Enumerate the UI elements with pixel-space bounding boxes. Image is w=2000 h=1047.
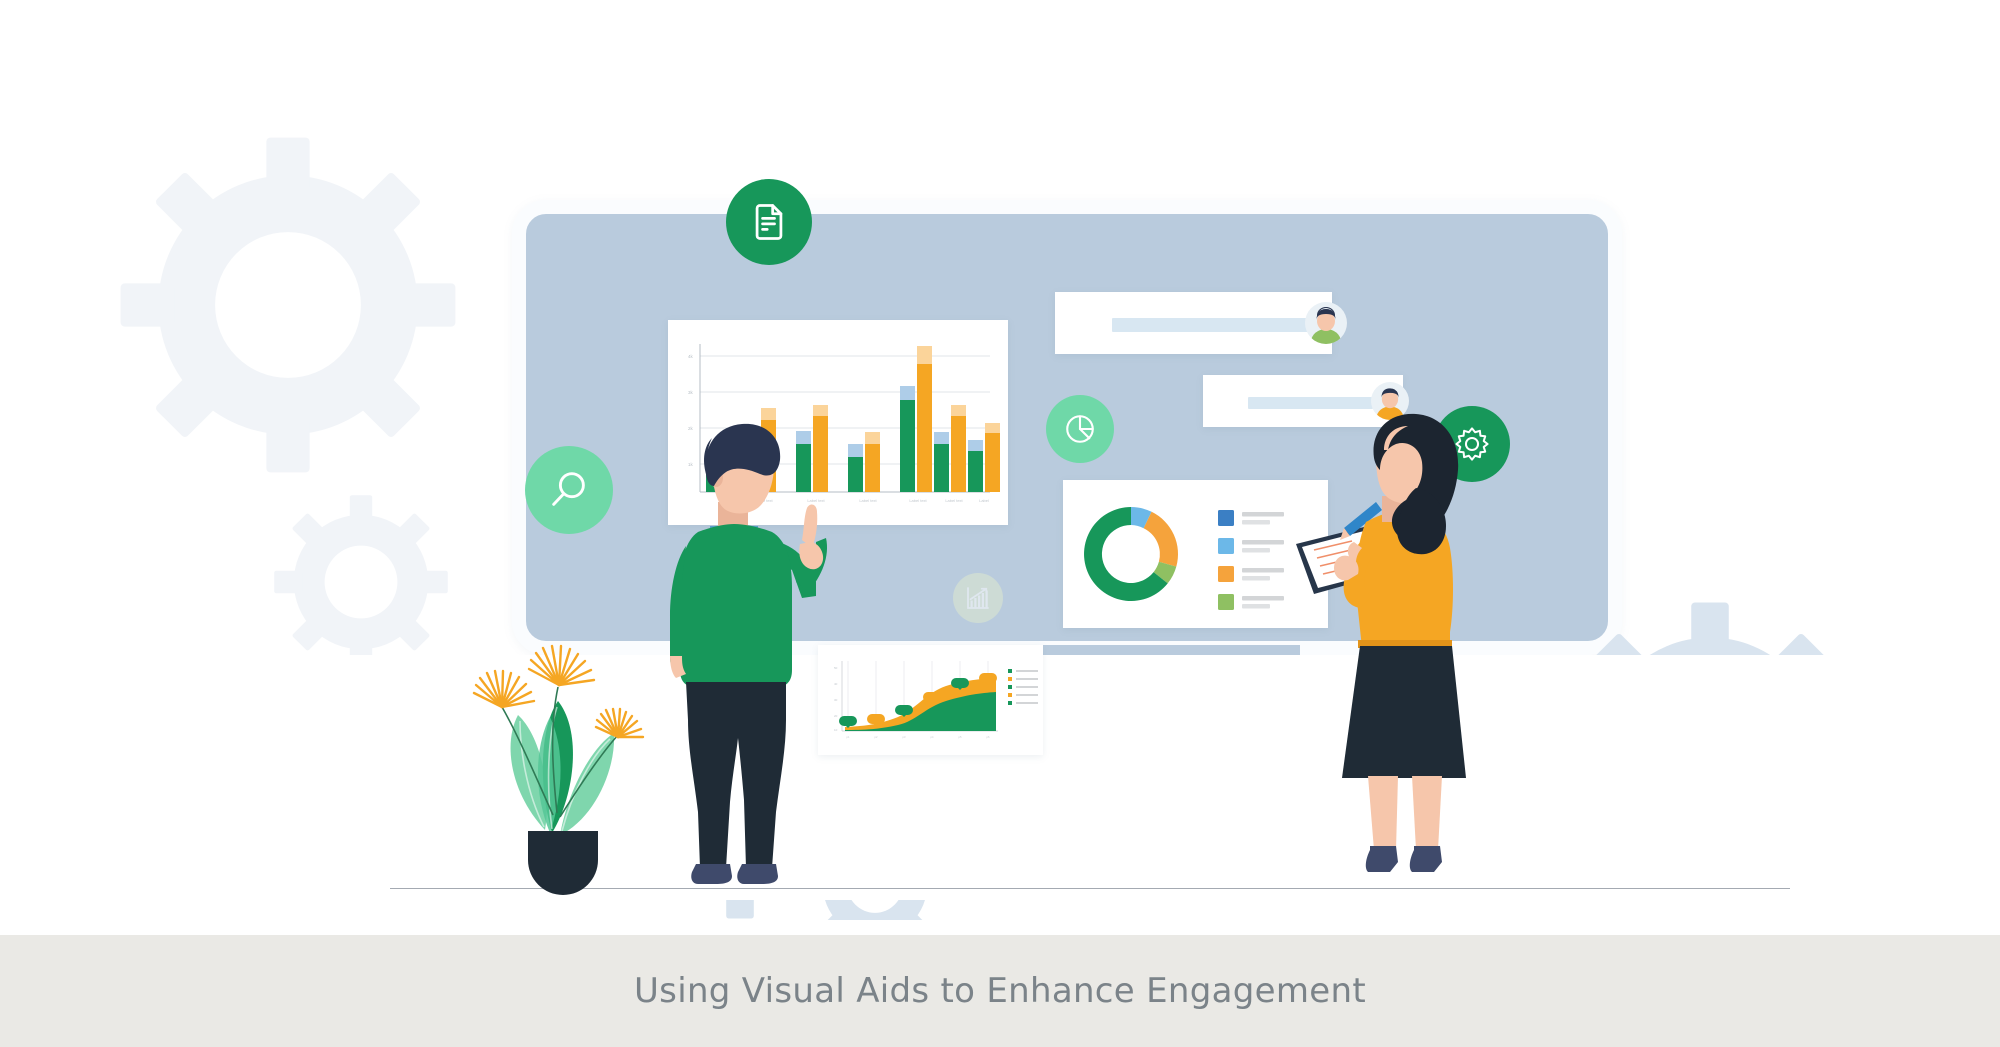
- svg-text:Label text: Label text: [859, 498, 877, 503]
- potted-plant: [440, 615, 670, 895]
- user-card-input-bar[interactable]: [1248, 397, 1373, 409]
- pie-chart-icon: [1062, 411, 1098, 447]
- woman-observer: [1290, 410, 1500, 900]
- document-badge[interactable]: [726, 179, 812, 265]
- svg-text:4k: 4k: [688, 354, 694, 359]
- svg-text:p2: p2: [875, 735, 878, 739]
- illustration-canvas: 4k 3k 2k 1k: [0, 0, 2000, 1047]
- svg-text:3k: 3k: [688, 390, 694, 395]
- growth-badge[interactable]: [953, 573, 1003, 623]
- svg-text:p6: p6: [987, 735, 990, 739]
- svg-text:Label text: Label text: [909, 498, 927, 503]
- search-badge[interactable]: [525, 446, 613, 534]
- avatar: [1305, 302, 1347, 344]
- donut-chart-card: [1063, 480, 1328, 628]
- svg-text:Label: Label: [979, 498, 989, 503]
- growth-chart-icon: [963, 583, 993, 613]
- svg-text:p3: p3: [903, 735, 906, 739]
- svg-text:p4: p4: [931, 735, 934, 739]
- pie-badge[interactable]: [1046, 395, 1114, 463]
- area-legend: [1008, 669, 1038, 705]
- svg-text:Label text: Label text: [945, 498, 963, 503]
- document-icon: [747, 200, 791, 244]
- user-card[interactable]: [1055, 292, 1332, 354]
- user-card-input-bar[interactable]: [1112, 318, 1308, 332]
- donut-legend: [1218, 510, 1284, 610]
- caption-text: Using Visual Aids to Enhance Engagement: [634, 971, 1366, 1011]
- pointing-hand: [796, 505, 827, 592]
- donut-chart: [1063, 480, 1328, 628]
- search-icon: [546, 467, 592, 513]
- svg-text:p5: p5: [959, 735, 962, 739]
- caption-bar: Using Visual Aids to Enhance Engagement: [0, 935, 2000, 1047]
- man-presenter: [640, 420, 860, 895]
